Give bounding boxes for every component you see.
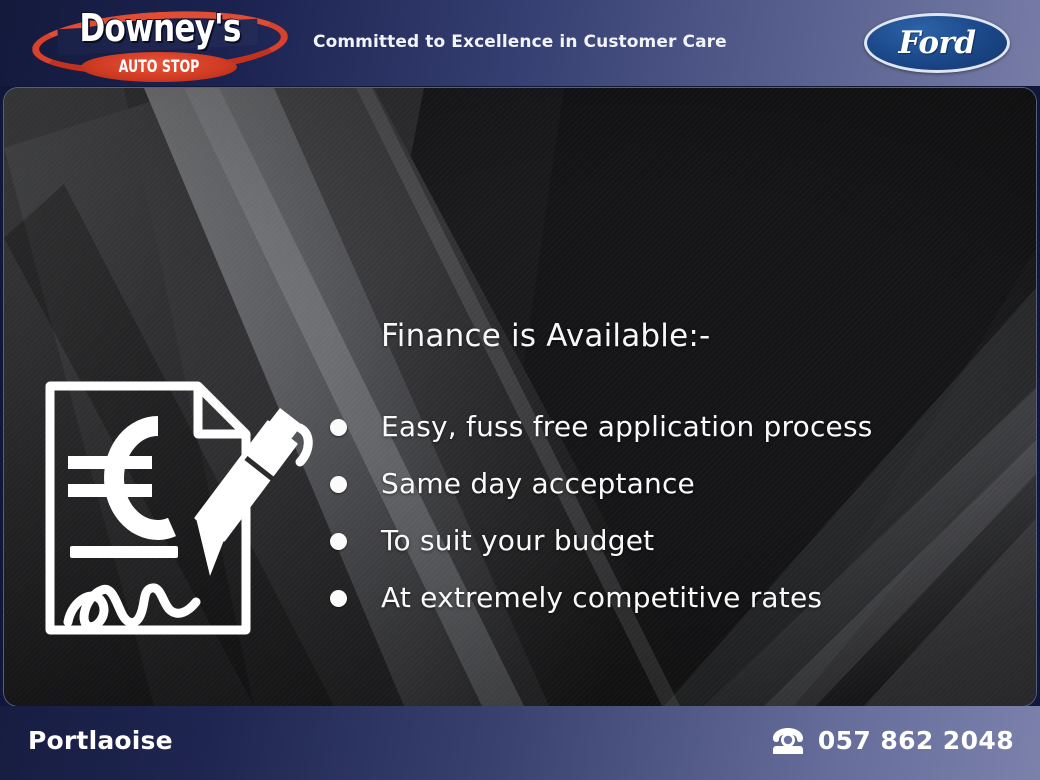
contact-block[interactable]: 057 862 2048 [771,725,1014,757]
list-item: Same day acceptance [330,455,873,512]
header-tagline: Committed to Excellence in Customer Care [313,30,727,54]
ford-logo-label: Ford [864,13,1010,73]
logo-badge-label: AUTO STOP [101,57,216,77]
footer-bar: Portlaoise 057 862 2048 [0,706,1040,780]
list-item: At extremely competitive rates [330,569,873,626]
main-panel: Finance is Available:- Easy, fuss free a… [4,88,1036,706]
list-item: To suit your budget [330,512,873,569]
list-item-label: Same day acceptance [381,467,695,501]
list-item: Easy, fuss free application process [330,398,873,455]
telephone-icon [771,726,805,756]
list-item-label: Easy, fuss free application process [381,410,873,444]
list-item-label: At extremely competitive rates [381,581,822,615]
logo-wordmark: Downey's [73,6,247,50]
euro-document-signature-icon [32,360,328,656]
dealership-location: Portlaoise [28,725,173,757]
page-title: Finance is Available:- [381,316,710,356]
bullet-dot-icon [330,476,347,493]
bullet-dot-icon [330,590,347,607]
benefits-list: Easy, fuss free application process Same… [330,398,873,626]
list-item-label: To suit your budget [381,524,654,558]
downeys-logo[interactable]: Downey's AUTO STOP [18,2,300,86]
finance-advertisement: Downey's AUTO STOP Committed to Excellen… [0,0,1040,780]
phone-number: 057 862 2048 [818,725,1014,757]
bullet-dot-icon [330,533,347,550]
header-bar: Downey's AUTO STOP Committed to Excellen… [0,0,1040,86]
bullet-dot-icon [330,419,347,436]
